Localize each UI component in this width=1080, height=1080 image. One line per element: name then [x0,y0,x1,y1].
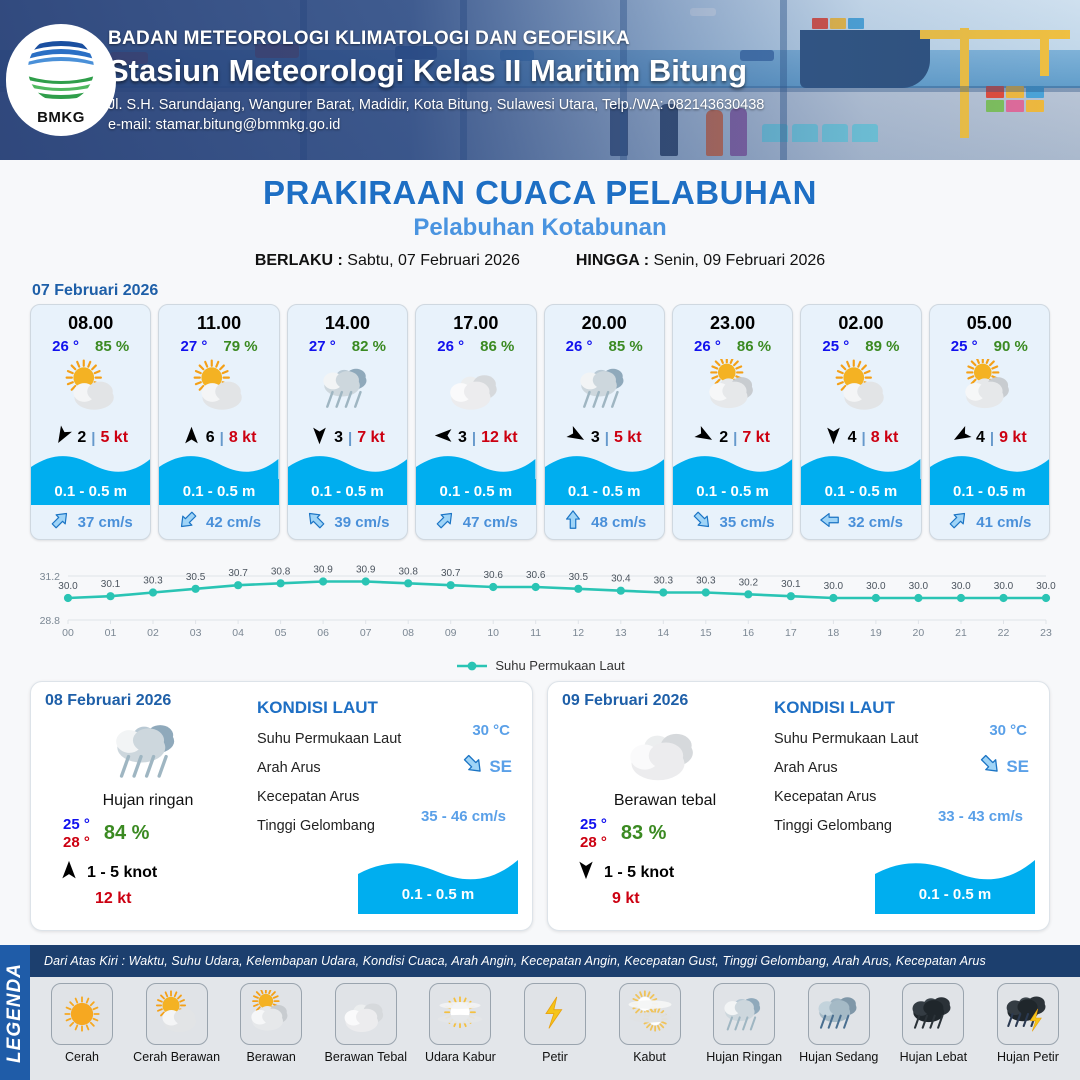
legend-marker-icon [455,660,489,672]
legend-item-label: Hujan Sedang [799,1050,878,1064]
svg-text:30.6: 30.6 [526,570,546,581]
card-wave-block: 0.1 - 0.5 m [159,453,278,505]
card-wind-speed: 9 kt [999,429,1027,447]
card-wind-direction: 3 [591,429,600,447]
valid-from-label: BERLAKU : [255,252,343,269]
sea-wave-value: 0.1 - 0.5 m [358,886,518,903]
card-time: 05.00 [930,305,1049,334]
legend-note: Dari Atas Kiri : Waktu, Suhu Udara, Kele… [30,945,1080,977]
weather-hujan-sedang-icon [808,983,870,1045]
card-wave-block: 0.1 - 0.5 m [801,453,920,505]
svg-text:30.0: 30.0 [909,581,929,592]
svg-text:28.8: 28.8 [40,615,61,627]
weather-kabut-icon [619,983,681,1045]
card-humidity: 90 % [994,338,1028,355]
sea-current-dir-value-row: SE [978,752,1029,781]
valid-from-value: Sabtu, 07 Februari 2026 [347,252,520,269]
forecast-card: 17.00 26 ° 86 % 3 | 12 kt 0.1 [415,304,536,540]
day-humidity: 84 % [104,822,150,845]
card-time: 11.00 [159,305,278,334]
legend-item-label: Cerah [65,1050,99,1064]
weather-berawan-tebal-icon [335,983,397,1045]
separator: | [472,430,476,447]
forecast-card: 11.00 27 ° 79 % 6 | 8 kt 0.1 - 0.5 m [158,304,279,540]
legend-body: Dari Atas Kiri : Waktu, Suhu Udara, Kele… [30,945,1080,1080]
card-temp-hum-row: 26 ° 86 % [673,338,792,355]
station-address: Jl. S.H. Sarundajang, Wangurer Barat, Ma… [108,97,764,113]
legend-item: Cerah [42,983,122,1064]
day-wind-range: 1 - 5 knot [87,864,157,882]
card-current-speed: 47 cm/s [463,514,518,531]
card-temperature: 27 ° [309,338,336,355]
day-date: 08 Februari 2026 [45,692,251,710]
day-temp-max: 28 ° [63,834,90,851]
day-humidity: 83 % [621,822,667,845]
wind-direction-arrow-icon [567,426,586,450]
wind-direction-arrow-icon [952,426,971,450]
card-temperature: 26 ° [566,338,593,355]
forecast-card: 14.00 27 ° 82 % 3 | 7 kt [287,304,408,540]
current-direction-arrow-icon [177,509,199,536]
card-temp-hum-row: 26 ° 85 % [31,338,150,355]
card-wind-row: 2 | 5 kt [31,425,150,451]
svg-text:30.2: 30.2 [739,577,759,588]
day-wind-row: 1 - 5 knot [45,860,251,885]
card-time: 23.00 [673,305,792,334]
card-current-row: 32 cm/s [801,505,920,539]
sea-current-dir-value: SE [489,757,512,777]
card-wave-block: 0.1 - 0.5 m [930,453,1049,505]
card-wind-row: 2 | 7 kt [673,425,792,451]
card-wind-speed: 5 kt [614,429,642,447]
card-current-speed: 32 cm/s [848,514,903,531]
day-wind-gust: 12 kt [45,890,251,908]
card-current-speed: 39 cm/s [334,514,389,531]
card-wind-direction: 2 [719,429,728,447]
current-direction-arrow-icon [691,509,713,536]
sea-current-speed-label: Kecepatan Arus [257,789,520,805]
weather-berawan-tebal-icon [562,712,768,790]
svg-text:22: 22 [998,627,1010,639]
weather-hujan-ringan-icon [45,712,251,790]
card-current-speed: 37 cm/s [78,514,133,531]
card-wave-height: 0.1 - 0.5 m [930,480,1049,504]
legend-item: Udara Kabur [420,983,500,1064]
legend-item: Berawan Tebal [326,983,406,1064]
day-wind-row: 1 - 5 knot [562,860,768,885]
agency-name: BADAN METEOROLOGI KLIMATOLOGI DAN GEOFIS… [108,28,764,50]
card-current-row: 35 cm/s [673,505,792,539]
sea-wave-block: 0.1 - 0.5 m [875,856,1035,914]
weather-hujan-ringan-icon [545,357,664,419]
legend-item: Hujan Ringan [704,983,784,1064]
weather-udara-kabur-icon [429,983,491,1045]
card-temperature: 26 ° [694,338,721,355]
legend-item: Hujan Petir [988,983,1068,1064]
svg-text:21: 21 [955,627,967,639]
weather-cerah-icon [51,983,113,1045]
day-wind-range: 1 - 5 knot [604,864,674,882]
svg-text:11: 11 [530,627,541,639]
sea-condition-title: KONDISI LAUT [257,698,520,718]
card-time: 17.00 [416,305,535,334]
current-direction-arrow-icon [49,509,71,536]
card-wave-block: 0.1 - 0.5 m [288,453,407,505]
day-wind-gust: 9 kt [562,890,768,908]
wind-direction-arrow-icon [576,860,596,885]
svg-text:14: 14 [657,627,669,639]
validity-row: BERLAKU : Sabtu, 07 Februari 2026 HINGGA… [0,252,1080,270]
station-name: Stasiun Meteorologi Kelas II Maritim Bit… [108,53,764,89]
daily-forecast-panel: 09 Februari 2026 Berawan tebal 25 ° 28 °… [547,681,1050,931]
card-wave-height: 0.1 - 0.5 m [801,480,920,504]
sea-current-speed-label: Kecepatan Arus [774,789,1037,805]
day-temp-max: 28 ° [580,834,607,851]
separator: | [733,430,737,447]
card-wave-height: 0.1 - 0.5 m [288,480,407,504]
card-current-row: 42 cm/s [159,505,278,539]
svg-text:16: 16 [742,627,754,639]
card-wind-speed: 7 kt [742,429,770,447]
svg-text:30.0: 30.0 [1036,581,1056,592]
card-wind-speed: 12 kt [481,429,517,447]
svg-text:13: 13 [615,627,627,639]
svg-text:19: 19 [870,627,882,639]
card-current-row: 48 cm/s [545,505,664,539]
legend-item-label: Cerah Berawan [133,1050,220,1064]
svg-text:02: 02 [147,627,159,639]
day-temp-column: 25 ° 28 ° [580,816,607,851]
daily-forecast-row: 08 Februari 2026 Hujan ringan 25 ° 28 ° [0,673,1080,931]
legend-item: Berawan [231,983,311,1064]
card-current-speed: 48 cm/s [591,514,646,531]
card-wind-row: 3 | 5 kt [545,425,664,451]
legend-section: LEGENDA Dari Atas Kiri : Waktu, Suhu Uda… [0,945,1080,1080]
forecast-card: 08.00 26 ° 85 % 2 | 5 kt 0.1 - 0.5 m [30,304,151,540]
valid-to-value: Senin, 09 Februari 2026 [653,252,825,269]
legend-item-label: Udara Kabur [425,1050,496,1064]
day-temp-column: 25 ° 28 ° [63,816,90,851]
card-time: 02.00 [801,305,920,334]
day-left-column: 08 Februari 2026 Hujan ringan 25 ° 28 ° [45,692,251,920]
wind-direction-arrow-icon [310,426,329,450]
svg-text:01: 01 [105,627,117,639]
card-wave-height: 0.1 - 0.5 m [416,480,535,504]
card-humidity: 86 % [737,338,771,355]
current-direction-arrow-icon [305,509,327,536]
svg-text:30.5: 30.5 [186,572,206,583]
weather-cerah-berawan-icon [801,357,920,419]
legend-icon-row: Cerah Cerah Berawan Berawan [30,977,1080,1080]
card-temp-hum-row: 26 ° 86 % [416,338,535,355]
current-direction-arrow-icon [947,509,969,536]
forecast-card: 23.00 26 ° 86 % 2 | 7 kt [672,304,793,540]
card-wave-block: 0.1 - 0.5 m [673,453,792,505]
bmkg-emblem-icon [22,35,100,107]
separator: | [348,430,352,447]
station-email: e-mail: stamar.bitung@bmmkg.go.id [108,117,764,133]
card-wind-row: 6 | 8 kt [159,425,278,451]
card-current-row: 37 cm/s [31,505,150,539]
legend-item: Hujan Lebat [893,983,973,1064]
card-current-row: 41 cm/s [930,505,1049,539]
bmkg-logo: BMKG [6,24,116,136]
legend-item: Hujan Sedang [799,983,879,1064]
current-direction-arrow-icon [461,752,485,781]
day-sea-column: KONDISI LAUT Suhu Permukaan Laut Arah Ar… [251,692,520,920]
current-direction-arrow-icon [434,509,456,536]
card-wind-row: 3 | 7 kt [288,425,407,451]
valid-to-label: HINGGA : [576,252,649,269]
page-subtitle: Pelabuhan Kotabunan [0,214,1080,242]
weather-berawan-tebal-icon [416,357,535,419]
card-wind-speed: 8 kt [229,429,257,447]
legend-item-label: Hujan Ringan [706,1050,782,1064]
card-wave-block: 0.1 - 0.5 m [31,453,150,505]
legend-item-label: Petir [542,1050,568,1064]
weather-berawan-icon [673,357,792,419]
svg-text:30.0: 30.0 [58,581,78,592]
svg-text:30.4: 30.4 [611,574,631,585]
weather-hujan-lebat-icon [902,983,964,1045]
sea-current-dir-value: SE [1006,757,1029,777]
day-condition: Berawan tebal [562,792,768,810]
wind-direction-arrow-icon [53,426,72,450]
card-temperature: 25 ° [822,338,849,355]
card-temperature: 27 ° [181,338,208,355]
current-direction-arrow-icon [562,509,584,536]
svg-text:30.3: 30.3 [654,576,674,587]
svg-text:20: 20 [913,627,925,639]
sea-current-dir-value-row: SE [461,752,512,781]
valid-from: BERLAKU : Sabtu, 07 Februari 2026 [255,252,520,270]
separator: | [605,430,609,447]
forecast-card: 20.00 26 ° 85 % 3 | 5 kt [544,304,665,540]
svg-text:09: 09 [445,627,457,639]
day-temp-row: 25 ° 28 ° 84 % [45,816,251,851]
card-wind-direction: 4 [976,429,985,447]
card-wave-block: 0.1 - 0.5 m [545,453,664,505]
card-current-row: 39 cm/s [288,505,407,539]
header-text-block: BADAN METEOROLOGI KLIMATOLOGI DAN GEOFIS… [108,28,764,133]
svg-text:30.0: 30.0 [994,581,1014,592]
card-current-row: 47 cm/s [416,505,535,539]
weather-hujan-ringan-icon [713,983,775,1045]
svg-text:23: 23 [1040,627,1052,639]
card-current-speed: 41 cm/s [976,514,1031,531]
card-current-speed: 42 cm/s [206,514,261,531]
sea-sst-value: 30 °C [989,722,1027,739]
svg-text:30.0: 30.0 [951,581,971,592]
svg-text:08: 08 [402,627,414,639]
svg-text:30.1: 30.1 [101,579,121,590]
svg-text:30.8: 30.8 [398,566,418,577]
wind-direction-arrow-icon [182,426,201,450]
svg-text:15: 15 [700,627,712,639]
card-time: 08.00 [31,305,150,334]
valid-to: HINGGA : Senin, 09 Februari 2026 [576,252,825,270]
sea-current-speed-value: 35 - 46 cm/s [421,808,506,825]
card-temp-hum-row: 25 ° 89 % [801,338,920,355]
current-direction-arrow-icon [819,509,841,536]
hourly-forecast-row: 08.00 26 ° 85 % 2 | 5 kt 0.1 - 0.5 m [0,304,1080,540]
weather-petir-icon [524,983,586,1045]
day-temp-min: 25 ° [63,816,90,833]
svg-text:00: 00 [62,627,74,639]
weather-berawan-icon [930,357,1049,419]
svg-text:06: 06 [317,627,329,639]
svg-text:30.9: 30.9 [313,565,333,576]
forecast-card: 02.00 25 ° 89 % 4 | 8 kt 0.1 - 0.5 m [800,304,921,540]
svg-text:12: 12 [572,627,584,639]
weather-hujan-ringan-icon [288,357,407,419]
card-wind-row: 4 | 9 kt [930,425,1049,451]
svg-text:30.1: 30.1 [781,579,801,590]
wind-direction-arrow-icon [59,860,79,885]
title-block: PRAKIRAAN CUACA PELABUHAN Pelabuhan Kota… [0,174,1080,270]
page-title: PRAKIRAAN CUACA PELABUHAN [0,174,1080,212]
card-wind-direction: 6 [206,429,215,447]
forecast-card: 05.00 25 ° 90 % 4 | 9 kt [929,304,1050,540]
svg-text:31.2: 31.2 [40,571,61,583]
sea-condition-title: KONDISI LAUT [774,698,1037,718]
wind-direction-arrow-icon [824,426,843,450]
svg-text:30.6: 30.6 [483,570,503,581]
sea-wave-value: 0.1 - 0.5 m [875,886,1035,903]
card-wind-speed: 5 kt [100,429,128,447]
card-current-speed: 35 cm/s [720,514,775,531]
legend-item-label: Berawan Tebal [325,1050,407,1064]
svg-text:04: 04 [232,627,244,639]
forecast-date-label: 07 Februari 2026 [32,282,1080,300]
separator: | [91,430,95,447]
svg-text:07: 07 [360,627,372,639]
card-wave-height: 0.1 - 0.5 m [545,480,664,504]
day-condition: Hujan ringan [45,792,251,810]
card-time: 14.00 [288,305,407,334]
page-header: BMKG BADAN METEOROLOGI KLIMATOLOGI DAN G… [0,0,1080,160]
card-wave-height: 0.1 - 0.5 m [31,480,150,504]
svg-text:30.8: 30.8 [271,566,291,577]
card-wave-height: 0.1 - 0.5 m [159,480,278,504]
svg-text:30.0: 30.0 [824,581,844,592]
card-wind-row: 4 | 8 kt [801,425,920,451]
svg-text:18: 18 [828,627,840,639]
legend-item: Kabut [610,983,690,1064]
card-temp-hum-row: 27 ° 79 % [159,338,278,355]
svg-text:17: 17 [785,627,797,639]
svg-text:30.0: 30.0 [866,581,886,592]
separator: | [220,430,224,447]
legend-item-label: Berawan [247,1050,296,1064]
separator: | [862,430,866,447]
wind-direction-arrow-icon [434,426,453,450]
day-sea-column: KONDISI LAUT Suhu Permukaan Laut Arah Ar… [768,692,1037,920]
card-temperature: 26 ° [52,338,79,355]
card-temperature: 25 ° [951,338,978,355]
card-temperature: 26 ° [437,338,464,355]
svg-text:30.3: 30.3 [696,576,716,587]
card-humidity: 86 % [480,338,514,355]
card-wind-direction: 3 [458,429,467,447]
legend-item: Petir [515,983,595,1064]
weather-hujan-petir-icon [997,983,1059,1045]
svg-text:30.9: 30.9 [356,565,376,576]
weather-cerah-berawan-icon [146,983,208,1045]
day-temp-min: 25 ° [580,816,607,833]
card-humidity: 85 % [609,338,643,355]
sea-wave-block: 0.1 - 0.5 m [358,856,518,914]
legend-vertical-text: LEGENDA [4,963,26,1063]
svg-text:05: 05 [275,627,287,639]
legend-item-label: Hujan Lebat [900,1050,967,1064]
wind-direction-arrow-icon [695,426,714,450]
card-wind-speed: 8 kt [871,429,899,447]
legend-item-label: Kabut [633,1050,666,1064]
card-time: 20.00 [545,305,664,334]
card-humidity: 79 % [223,338,257,355]
card-wave-height: 0.1 - 0.5 m [673,480,792,504]
card-wind-direction: 4 [848,429,857,447]
svg-text:03: 03 [190,627,202,639]
weather-cerah-berawan-icon [31,357,150,419]
current-direction-arrow-icon [978,752,1002,781]
card-wind-speed: 7 kt [357,429,385,447]
card-wind-row: 3 | 12 kt [416,425,535,451]
svg-text:10: 10 [487,627,499,639]
card-temp-hum-row: 27 ° 82 % [288,338,407,355]
legend-vertical-label: LEGENDA [0,945,30,1080]
svg-text:30.3: 30.3 [143,576,163,587]
card-wind-direction: 3 [334,429,343,447]
svg-text:30.7: 30.7 [228,568,248,579]
card-humidity: 89 % [865,338,899,355]
sea-current-speed-value: 33 - 43 cm/s [938,808,1023,825]
day-left-column: 09 Februari 2026 Berawan tebal 25 ° 28 °… [562,692,768,920]
bmkg-logo-text: BMKG [37,109,85,126]
svg-text:30.5: 30.5 [569,572,589,583]
card-wave-block: 0.1 - 0.5 m [416,453,535,505]
card-humidity: 82 % [352,338,386,355]
weather-cerah-berawan-icon [159,357,278,419]
card-humidity: 85 % [95,338,129,355]
separator: | [990,430,994,447]
day-date: 09 Februari 2026 [562,692,768,710]
daily-forecast-panel: 08 Februari 2026 Hujan ringan 25 ° 28 ° [30,681,533,931]
card-temp-hum-row: 26 ° 85 % [545,338,664,355]
sst-chart: 31.228.830.00030.10130.30230.50330.70430… [0,550,1080,662]
day-temp-row: 25 ° 28 ° 83 % [562,816,768,851]
card-temp-hum-row: 25 ° 90 % [930,338,1049,355]
sst-chart-svg: 31.228.830.00030.10130.30230.50330.70430… [22,550,1058,642]
card-wind-direction: 2 [77,429,86,447]
sea-sst-value: 30 °C [472,722,510,739]
svg-text:30.7: 30.7 [441,568,461,579]
legend-item-label: Hujan Petir [997,1050,1059,1064]
legend-item: Cerah Berawan [137,983,217,1064]
weather-berawan-icon [240,983,302,1045]
